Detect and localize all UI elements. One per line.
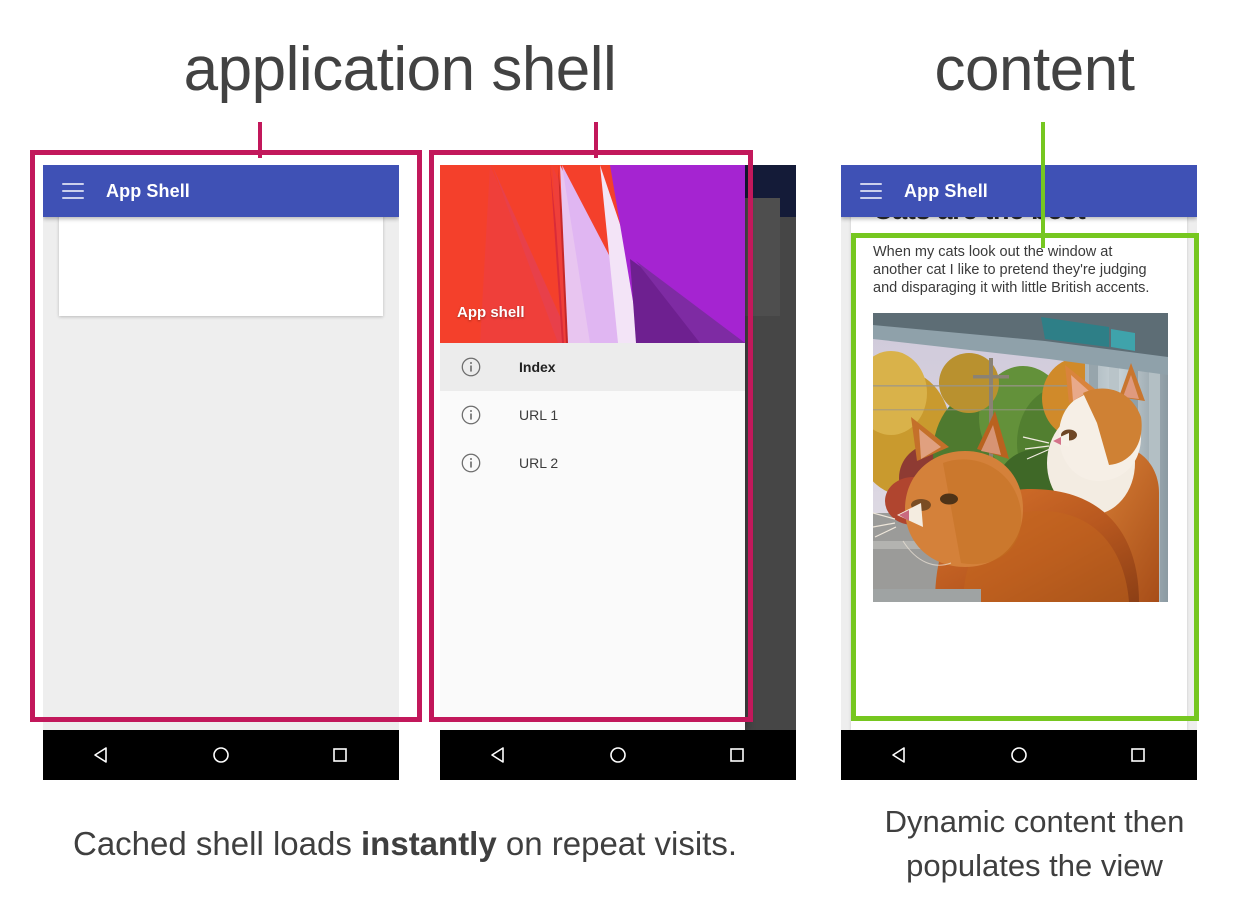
home-circle-icon[interactable] bbox=[199, 740, 243, 770]
back-triangle-icon[interactable] bbox=[80, 740, 124, 770]
phone-screen-drawer: App shell Index URL 1 bbox=[440, 165, 796, 730]
navigation-drawer: App shell Index URL 1 bbox=[440, 165, 745, 730]
drawer-item-label: URL 2 bbox=[519, 455, 558, 471]
app-bar-title: App Shell bbox=[904, 181, 988, 202]
hamburger-icon[interactable] bbox=[62, 183, 84, 199]
back-triangle-icon[interactable] bbox=[878, 740, 922, 770]
article-body: When my cats look out the window at anot… bbox=[873, 243, 1165, 297]
recents-square-icon[interactable] bbox=[1116, 740, 1160, 770]
phone-with-content: App Shell Cats are the best When my cats… bbox=[841, 165, 1197, 780]
android-nav-bar bbox=[43, 730, 399, 780]
app-bar: App Shell bbox=[841, 165, 1197, 217]
caption-left: Cached shell loads instantly on repeat v… bbox=[0, 822, 810, 866]
app-bar: App Shell bbox=[43, 165, 399, 217]
back-triangle-icon[interactable] bbox=[477, 740, 521, 770]
caption-right: Dynamic content then populates the view bbox=[820, 800, 1249, 888]
hamburger-icon[interactable] bbox=[860, 183, 882, 199]
phone-screen-content: App Shell Cats are the best When my cats… bbox=[841, 165, 1197, 730]
cats-photo-graphic bbox=[873, 313, 1168, 602]
drawer-item-url-1[interactable]: URL 1 bbox=[440, 391, 745, 439]
caption-right-line-1: Dynamic content then bbox=[820, 800, 1249, 844]
leader-line-shell-right bbox=[594, 122, 598, 158]
caption-left-prefix: Cached shell loads bbox=[73, 825, 361, 862]
drawer-item-list: Index URL 1 URL 2 bbox=[440, 343, 745, 487]
article-card: Cats are the best When my cats look out … bbox=[851, 175, 1187, 730]
drawer-item-index[interactable]: Index bbox=[440, 343, 745, 391]
caption-left-emphasis: instantly bbox=[361, 825, 497, 862]
info-icon bbox=[460, 404, 482, 426]
info-icon bbox=[460, 356, 482, 378]
phone-app-shell-drawer: App shell Index URL 1 bbox=[440, 165, 796, 780]
phone-screen-app-shell: App Shell bbox=[43, 165, 399, 730]
heading-application-shell: application shell bbox=[0, 34, 800, 106]
android-nav-bar bbox=[440, 730, 796, 780]
home-circle-icon[interactable] bbox=[997, 740, 1041, 770]
caption-right-line-2: populates the view bbox=[820, 844, 1249, 888]
leader-line-shell-left bbox=[258, 122, 262, 158]
caption-left-suffix: on repeat visits. bbox=[497, 825, 737, 862]
drawer-item-url-2[interactable]: URL 2 bbox=[440, 439, 745, 487]
app-bar-title: App Shell bbox=[106, 181, 190, 202]
phone-app-shell: App Shell bbox=[43, 165, 399, 780]
android-nav-bar bbox=[841, 730, 1197, 780]
heading-content: content bbox=[820, 34, 1249, 106]
recents-square-icon[interactable] bbox=[318, 740, 362, 770]
drawer-item-label: Index bbox=[519, 359, 556, 375]
info-icon bbox=[460, 452, 482, 474]
drawer-item-label: URL 1 bbox=[519, 407, 558, 423]
recents-square-icon[interactable] bbox=[715, 740, 759, 770]
article-image bbox=[873, 313, 1168, 602]
home-circle-icon[interactable] bbox=[596, 740, 640, 770]
drawer-header-label: App shell bbox=[457, 304, 525, 321]
drawer-header: App shell bbox=[440, 165, 745, 343]
leader-line-content bbox=[1041, 122, 1045, 248]
